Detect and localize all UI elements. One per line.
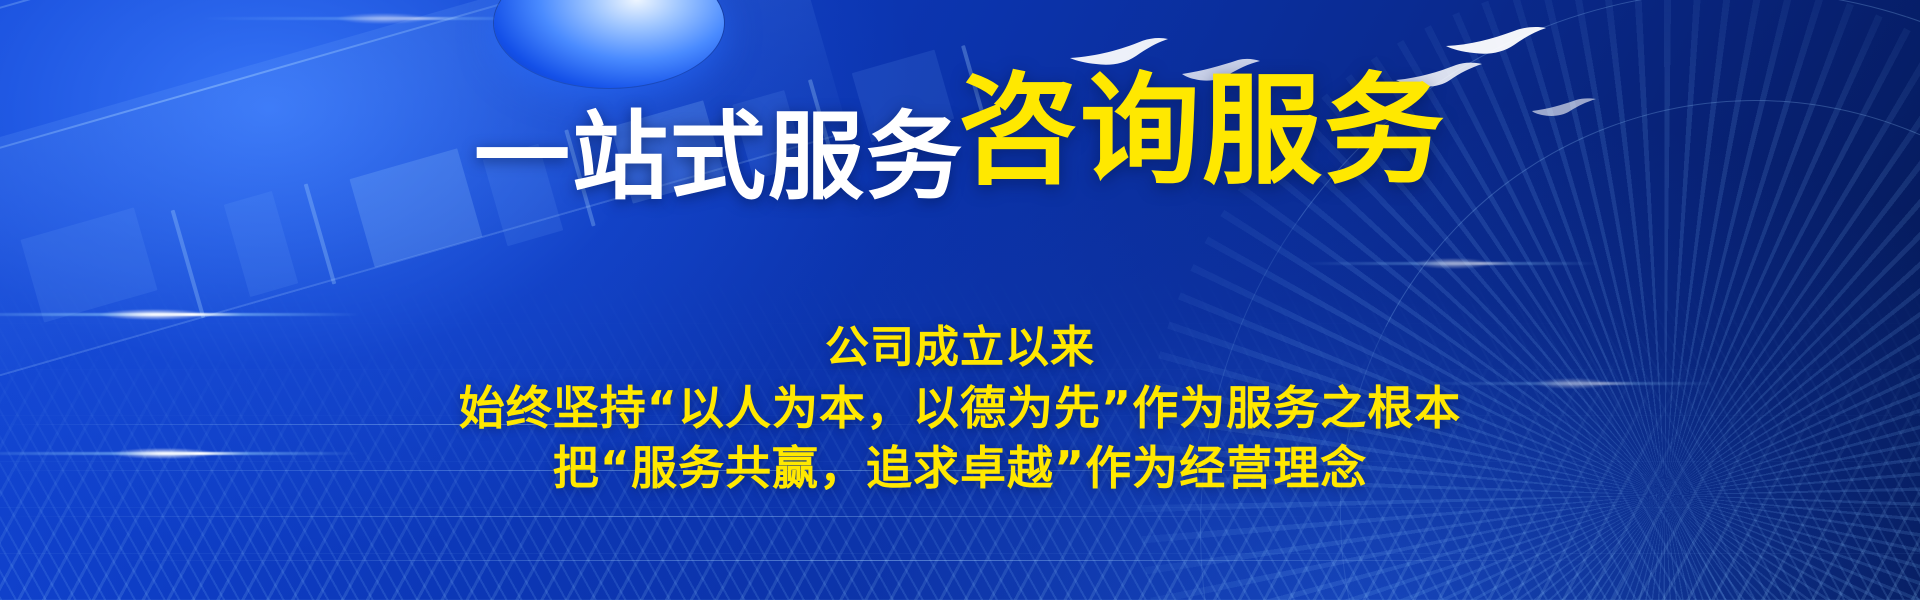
headline-accent-text: 咨询服务 (958, 62, 1446, 201)
ribbon-tick (20, 207, 157, 322)
headline: 一站式服务咨询服务 (0, 72, 1920, 205)
light-streak (200, 17, 560, 20)
tagline-line-2: 始终坚持“以人为本，以德为先”作为服务之根本 (0, 378, 1920, 438)
tagline-line-3: 把“服务共赢，追求卓越”作为经营理念 (0, 438, 1920, 498)
headline-main-text: 一站式服务 (474, 101, 964, 213)
ribbon-tick (171, 210, 206, 319)
ribbon-tick (224, 191, 299, 297)
seagull-icon (1444, 26, 1576, 58)
promo-banner: 一站式服务咨询服务 公司成立以来 始终坚持“以人为本，以德为先”作为服务之根本 … (0, 0, 1920, 600)
tagline-line-1: 公司成立以来 (0, 318, 1920, 378)
light-streak (0, 313, 360, 316)
light-streak (1300, 262, 1600, 265)
hairline (120, 560, 1620, 561)
hairline (0, 516, 1320, 517)
tagline-block: 公司成立以来 始终坚持“以人为本，以德为先”作为服务之根本 把“服务共赢，追求卓… (0, 318, 1920, 498)
